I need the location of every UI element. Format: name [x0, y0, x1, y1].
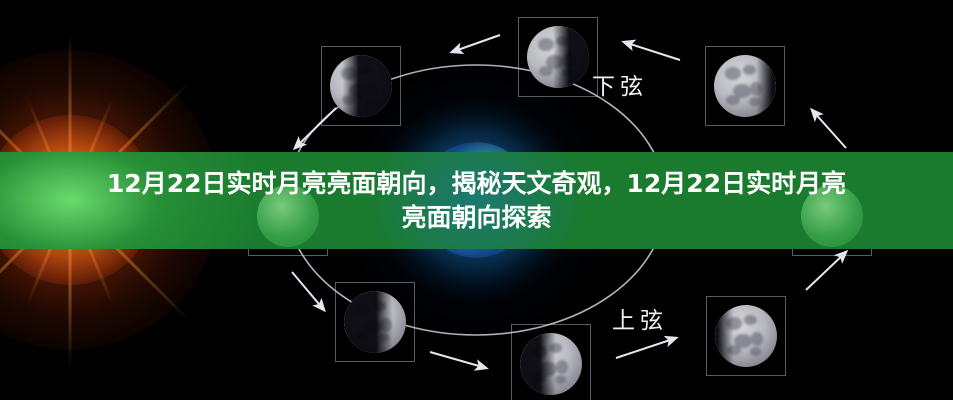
- orbit-arrow-1: [452, 35, 500, 52]
- moon-terminator-shadow: [520, 333, 582, 395]
- moon-disc: [527, 26, 589, 88]
- moon-disc: [715, 305, 777, 367]
- moon-disc: [714, 55, 776, 117]
- moon-terminator-shadow: [714, 55, 776, 117]
- orbit-arrow-2: [624, 42, 680, 60]
- moon-first-quarter: [520, 333, 582, 395]
- banner-title-line-1: 12月22日实时月亮亮面朝向，揭秘天文奇观，12月22日实时月亮: [107, 167, 846, 201]
- moon-disc: [344, 291, 406, 353]
- orbit-arrow-5: [430, 352, 486, 368]
- moon-last-quarter: [527, 26, 589, 88]
- orbit-arrow-8: [812, 110, 846, 148]
- moon-waxing-crescent: [344, 291, 406, 353]
- phase-label: 上弦: [612, 301, 668, 335]
- banner-title-line-2: 亮面朝向探索: [401, 201, 551, 235]
- phase-label: 下弦: [592, 67, 648, 101]
- moon-phase-diagram-image: 下弦上弦朔望 12月22日实时月亮亮面朝向，揭秘天文奇观，12月22日实时月亮 …: [0, 0, 953, 400]
- moon-terminator-shadow: [527, 26, 589, 88]
- banner-text-block: 12月22日实时月亮亮面朝向，揭秘天文奇观，12月22日实时月亮 亮面朝向探索: [0, 152, 953, 249]
- title-banner: 12月22日实时月亮亮面朝向，揭秘天文奇观，12月22日实时月亮 亮面朝向探索: [0, 152, 953, 249]
- orbit-arrow-7: [806, 252, 846, 290]
- moon-waning-crescent: [330, 55, 392, 117]
- moon-disc: [330, 55, 392, 117]
- moon-waning-gibbous: [714, 55, 776, 117]
- moon-terminator-shadow: [344, 291, 406, 353]
- moon-disc: [520, 333, 582, 395]
- moon-terminator-shadow: [330, 55, 392, 117]
- orbit-arrow-6: [616, 338, 676, 358]
- moon-terminator-shadow: [715, 305, 777, 367]
- orbit-arrow-4: [292, 272, 324, 310]
- moon-waxing-gibbous: [715, 305, 777, 367]
